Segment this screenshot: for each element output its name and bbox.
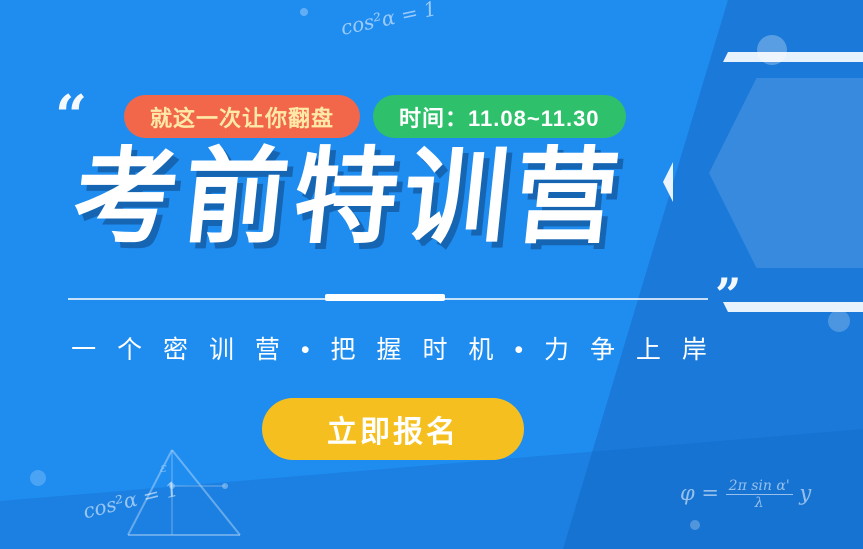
sketch-epsilon-label: ε [160,461,167,476]
math-formula-bottom-right: φ = 2π sin α' λ y [680,478,811,511]
quote-close-icon: ” [715,272,741,318]
formula-tail: y [799,481,811,505]
divider-accent [325,294,445,301]
background-shape-right [563,0,863,549]
badge-slogan: 就这一次让你翻盘 [124,95,360,138]
badge-date: 时间：11.08~11.30 [373,95,626,138]
enroll-button[interactable]: 立即报名 [262,398,524,460]
formula-lead: φ = [680,481,719,505]
geometry-sketch-decor: ε [120,440,250,540]
formula-denominator: λ [726,495,793,511]
math-formula-top-left: cos²α = 1 [339,0,439,40]
subtitle: 一 个 密 训 营 • 把 握 时 机 • 力 争 上 岸 [0,330,785,366]
circle-decor-icon [30,470,46,486]
circle-decor-icon [690,520,700,530]
circle-decor-icon [300,8,308,16]
circle-decor-icon [757,35,787,65]
page-title: 考前特训营 [68,140,630,254]
hexagon-outline-decor [663,52,863,312]
hexagon-fill-decor [709,78,863,268]
formula-numerator: 2π sin α' [726,478,793,495]
circle-decor-icon [828,310,850,332]
badge-date-label: 时间：11.08~11.30 [399,101,600,133]
formula-fraction: 2π sin α' λ [726,478,793,511]
badge-row: 就这一次让你翻盘 时间：11.08~11.30 [124,95,626,138]
promo-banner: cos²α = 1 cos²α = 1 φ = 2π sin α' λ y ε … [0,0,863,549]
badge-slogan-label: 就这一次让你翻盘 [150,101,334,133]
